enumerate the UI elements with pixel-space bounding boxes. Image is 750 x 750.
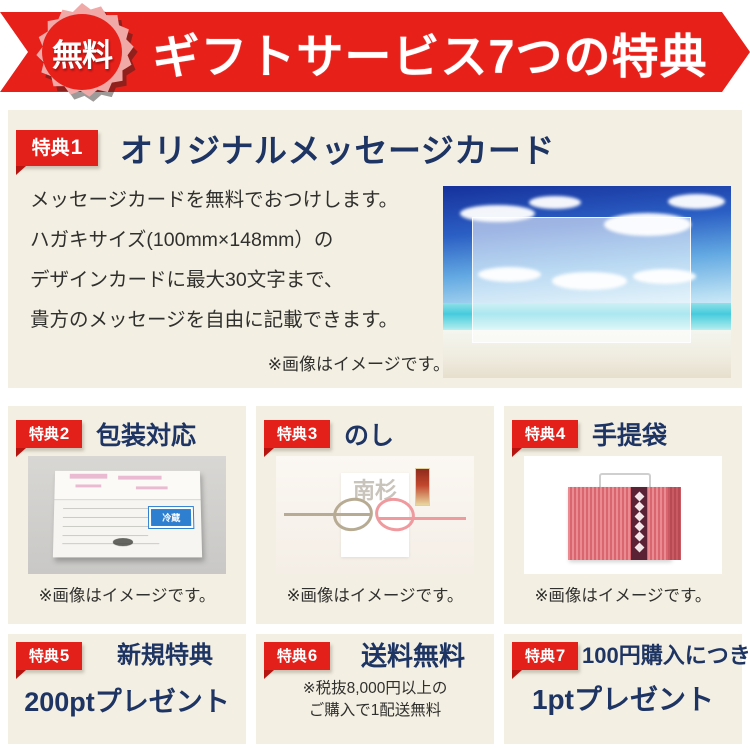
newsprint-accent (118, 476, 161, 479)
benefit-7-header: 特典 7 (512, 642, 578, 670)
benefit-card-5: 特典 5 新規特典 200ptプレゼント (8, 634, 246, 744)
benefit-6-tag-number: 6 (308, 648, 317, 665)
benefit-3-image-note: ※画像はイメージです。 (256, 582, 494, 606)
noshi-decoration-icon (415, 468, 431, 506)
benefit-1-tag-label: 特典 (32, 139, 70, 158)
benefit-card-2: 特典 2 包装対応 (8, 406, 246, 624)
cloud-icon (668, 194, 726, 209)
page-title: ギフトサービス7つの特典 (140, 12, 720, 92)
band-diamond-icon (634, 532, 644, 542)
gift-service-promo-page: ギフトサービス7つの特典 無料 特典 1 オリジナルメッセージカード メッセージ… (0, 0, 750, 750)
benefit-4-tag-number: 4 (556, 426, 565, 443)
newsprint-line (62, 535, 148, 536)
bag-logo-icon (578, 534, 613, 544)
benefit-4-photo (524, 456, 722, 574)
band-diamond-icon (634, 491, 644, 501)
benefit-2-tag-label: 特典 (29, 427, 59, 442)
refrigerated-sticker: 冷蔵 (149, 507, 193, 528)
benefit-3-title: のし (344, 416, 394, 452)
benefit-5-tag-label: 特典 (29, 649, 59, 664)
shopping-bag (568, 487, 671, 560)
benefit-2-header: 特典 2 包装対応 (16, 416, 196, 452)
benefit-5-tag: 特典 5 (16, 642, 82, 670)
benefit-1-photo (443, 186, 731, 378)
benefit-7-tag: 特典 7 (512, 642, 578, 670)
benefit-6-header: 特典 6 (264, 642, 330, 670)
benefit-4-title: 手提袋 (592, 416, 667, 452)
benefit-5-line-2: 200ptプレゼント (8, 680, 246, 719)
benefit-2-image-note: ※画像はイメージです。 (8, 582, 246, 606)
benefit-5-title: 新規特典 (90, 642, 240, 670)
benefit-4-header: 特典 4 手提袋 (512, 416, 667, 452)
free-badge: 無料 (28, 2, 140, 104)
benefit-6-tag-label: 特典 (277, 649, 307, 664)
benefit-2-tag: 特典 2 (16, 420, 82, 448)
benefit-2-photo: 冷蔵 (28, 456, 226, 574)
newsprint-line (62, 544, 160, 545)
benefit-6-note-line-1: ※税抜8,000円以上の (256, 678, 494, 700)
band-diamond-icon (634, 512, 644, 522)
benefit-3-tag-number: 3 (308, 426, 317, 443)
benefit-1-body-line-3: デザインカードに最大30文字まで、 (30, 260, 450, 300)
bag-side-panel (668, 487, 680, 560)
benefit-2-title: 包装対応 (96, 416, 196, 452)
benefit-7-tag-number: 7 (556, 648, 565, 665)
wrapped-box: 冷蔵 (53, 471, 202, 558)
benefit-6-title: 送料無料 (338, 642, 488, 670)
benefit-2-tag-number: 2 (60, 426, 69, 443)
message-card-overlay (472, 217, 691, 344)
benefit-3-tag: 特典 3 (264, 420, 330, 448)
benefit-1-body-line-4: 貴方のメッセージを自由に記載できます。 (30, 300, 450, 340)
badge-label: 無料 (30, 3, 134, 101)
benefit-7-title: 100円購入につき (582, 642, 732, 670)
box-stamp (112, 538, 133, 546)
page-header: ギフトサービス7つの特典 無料 (0, 0, 750, 104)
newsprint-accent (69, 474, 107, 478)
band-diamond-icon (634, 501, 644, 511)
benefit-7-tag-label: 特典 (525, 649, 555, 664)
benefit-5-header: 特典 5 (16, 642, 82, 670)
benefit-1-body: メッセージカードを無料でおつけします。 ハガキサイズ(100mm×148mm）の… (30, 180, 450, 340)
newsprint-accent (136, 486, 168, 489)
benefit-6-note-line-2: ご購入で1配送無料 (256, 700, 494, 722)
newsprint-accent (75, 485, 101, 488)
cloud-icon (529, 196, 581, 209)
benefit-4-tag: 特典 4 (512, 420, 578, 448)
benefit-3-header: 特典 3 のし (264, 416, 394, 452)
benefit-1-title: オリジナルメッセージカード (120, 124, 555, 172)
band-diamond-icon (634, 542, 644, 552)
benefit-6-note: ※税抜8,000円以上の ご購入で1配送無料 (256, 678, 494, 722)
benefit-card-6: 特典 6 送料無料 ※税抜8,000円以上の ご購入で1配送無料 (256, 634, 494, 744)
benefit-4-image-note: ※画像はイメージです。 (504, 582, 742, 606)
bag-pattern-band (631, 487, 646, 560)
benefit-card-4: 特典 4 手提袋 (504, 406, 742, 624)
benefit-1-tag-number: 1 (71, 137, 83, 158)
benefit-1-tag: 特典 1 (16, 130, 98, 166)
benefit-3-tag-label: 特典 (277, 427, 307, 442)
benefit-6-tag: 特典 6 (264, 642, 330, 670)
benefit-1-body-line-2: ハガキサイズ(100mm×148mm）の (30, 220, 450, 260)
benefit-1-header: 特典 1 オリジナルメッセージカード (16, 124, 555, 172)
benefit-card-7: 特典 7 100円購入につき 1ptプレゼント (504, 634, 742, 744)
benefit-5-tag-number: 5 (60, 648, 69, 665)
benefit-7-line-2: 1ptプレゼント (504, 678, 742, 718)
benefit-3-photo: 南杉 (276, 456, 474, 574)
benefit-4-tag-label: 特典 (525, 427, 555, 442)
benefit-card-3: 特典 3 のし 南杉 ※画像はイメージです。 (256, 406, 494, 624)
benefit-1-image-note: ※画像はイメージです。 (30, 350, 450, 375)
benefit-1-body-line-1: メッセージカードを無料でおつけします。 (30, 180, 450, 220)
